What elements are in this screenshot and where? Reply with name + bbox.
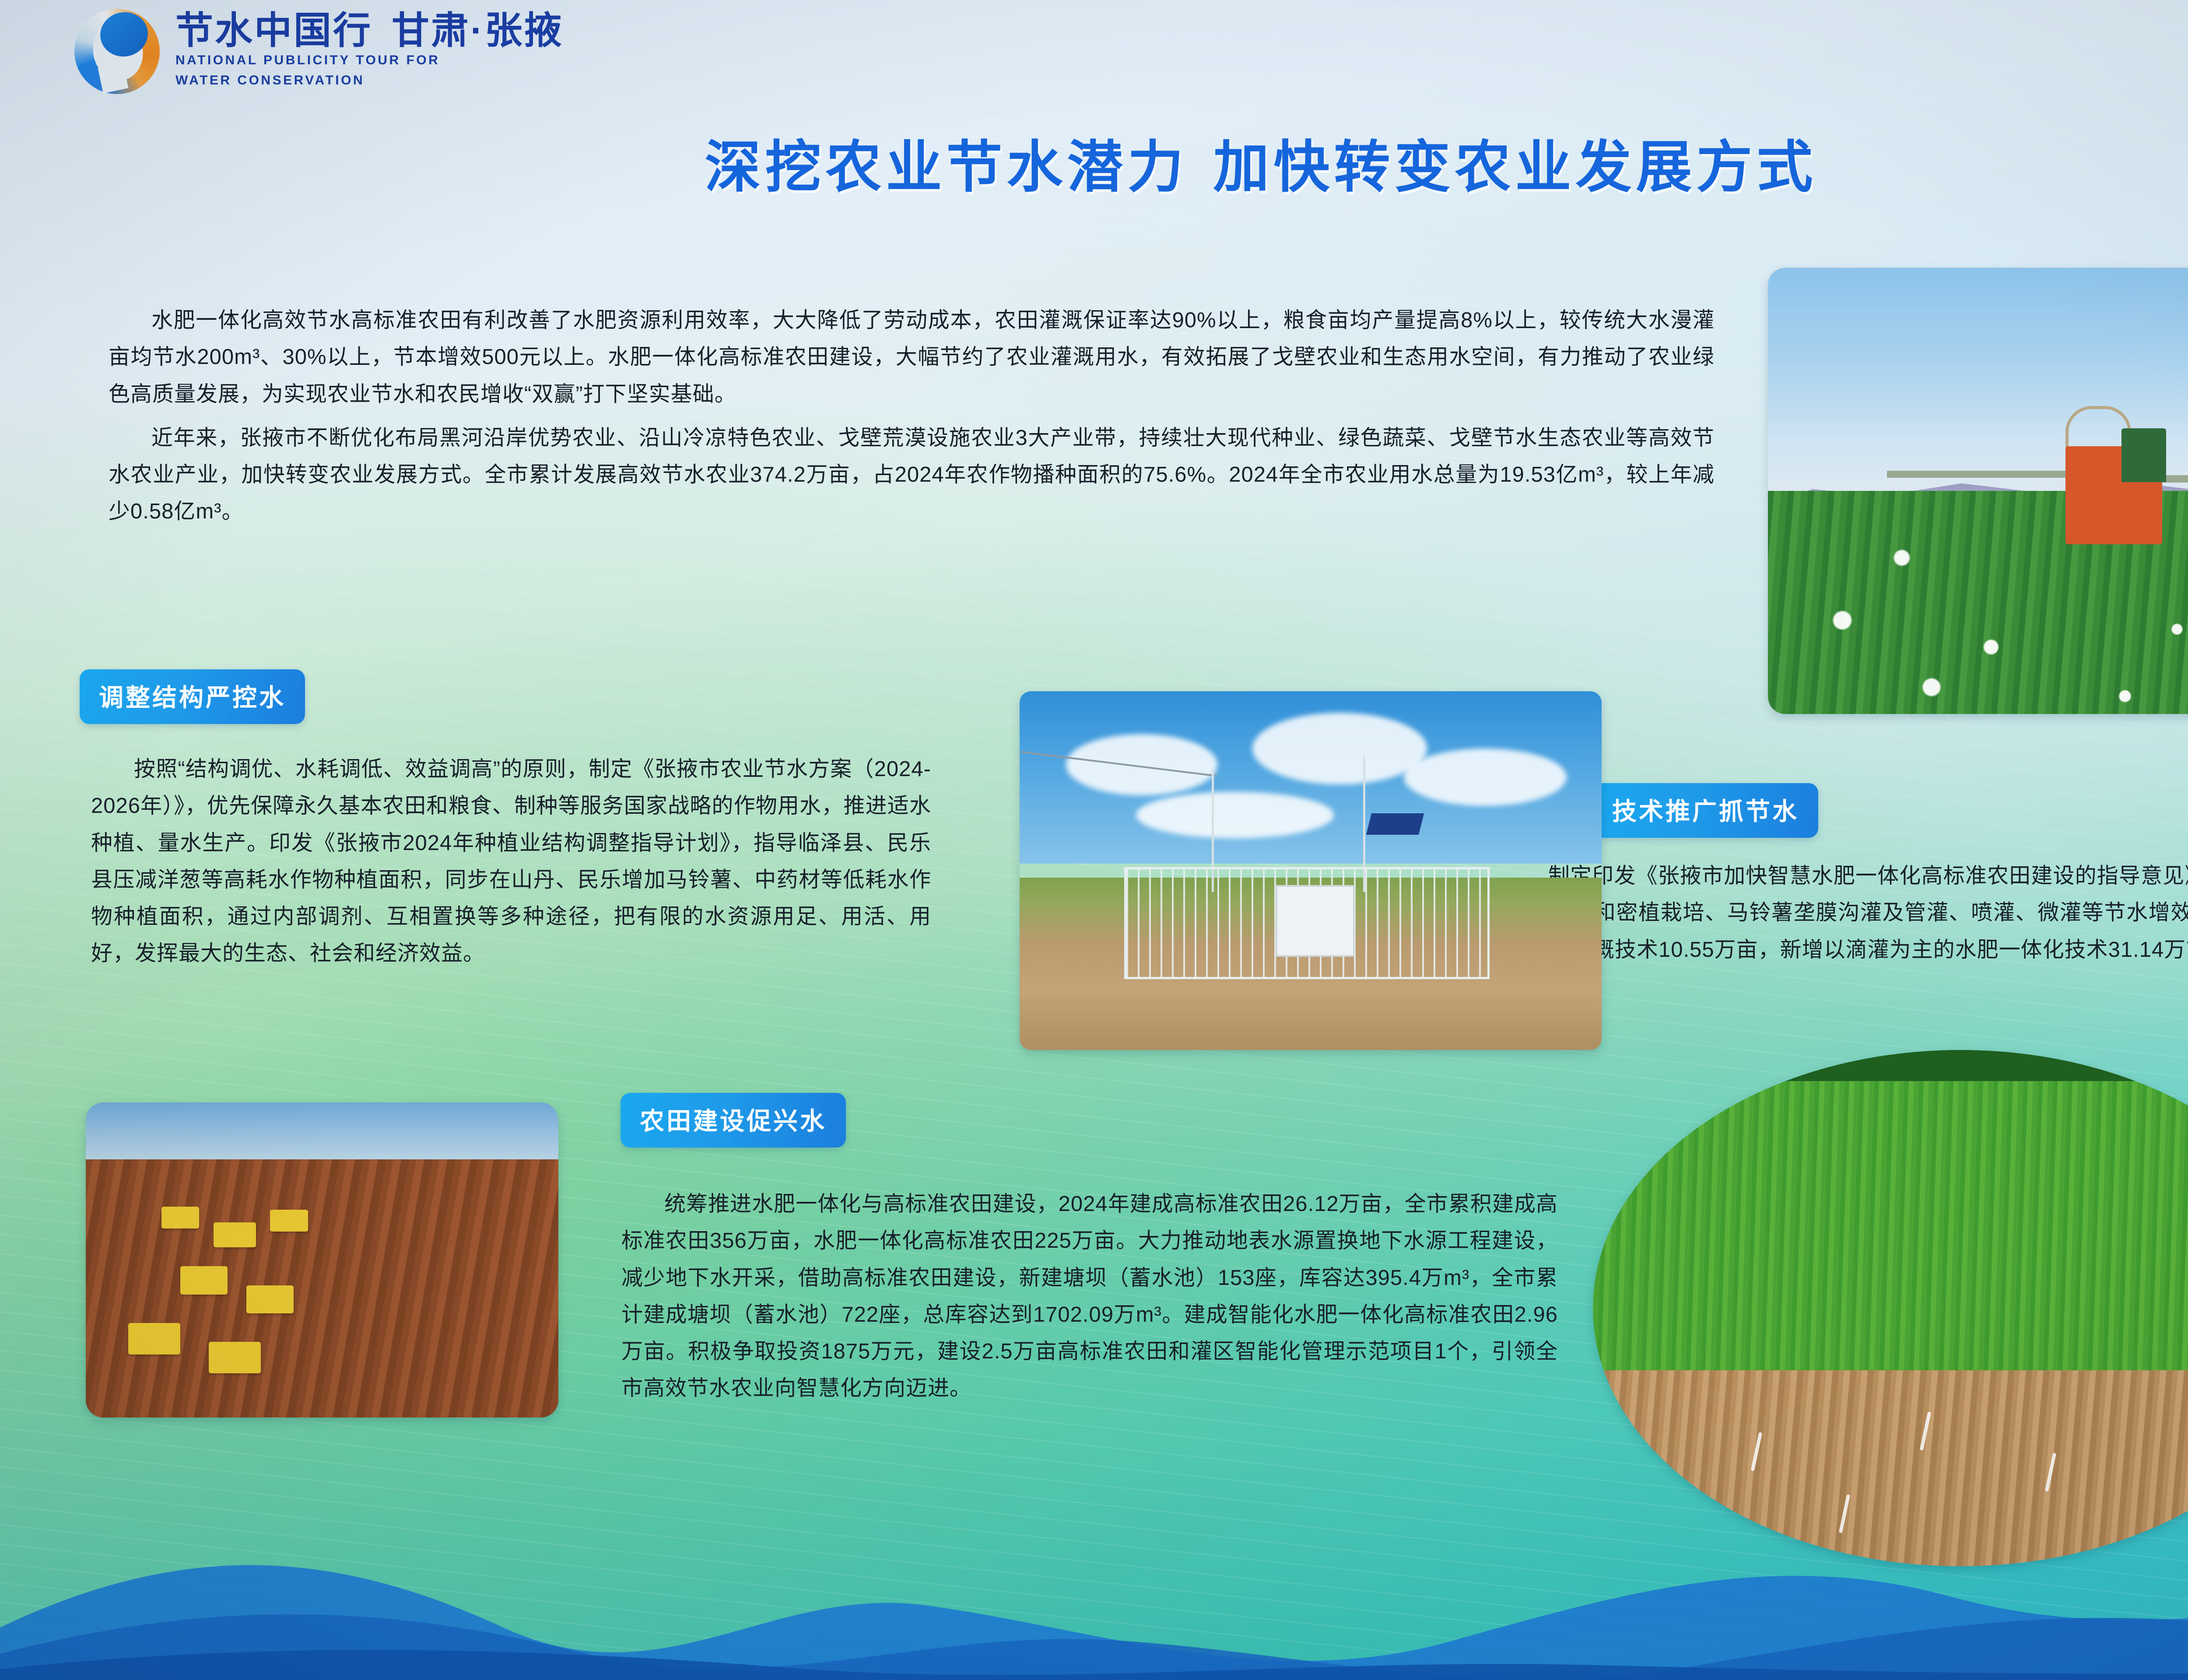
weather-station-field-photo [1020, 691, 1602, 1050]
brand-location: 甘肃·张掖 [392, 10, 564, 52]
page-title-part2: 加快转变农业发展方式 [1213, 136, 1817, 199]
section-badge-farmland-construction: 农田建设促兴水 [621, 1093, 846, 1148]
section-badge-label: 农田建设促兴水 [621, 1093, 846, 1148]
tillage-machinery-field-photo [86, 1102, 558, 1417]
page-title-part1: 深挖农业节水潜力 [705, 136, 1188, 199]
water-drop-ring-logo-icon [74, 9, 160, 94]
sprinkler-irrigation-field-photo [1593, 1050, 2188, 1566]
brand-title-cn: 节水中国行 [175, 10, 372, 52]
section-body-technology-promotion: 制定印发《张掖市加快智慧水肥一体化高标准农田建设的指导意见》，积极推广小麦浅埋滴… [1505, 857, 2188, 968]
poster-board: 节水中国行甘肃·张掖 NATIONAL PUBLICITY TOUR FOR W… [0, 0, 2188, 1680]
header: 节水中国行甘肃·张掖 NATIONAL PUBLICITY TOUR FOR W… [74, 9, 564, 94]
intro-paragraph-2: 近年来，张掖市不断优化布局黑河沿岸优势农业、沿山冷凉特色农业、戈壁荒漠设施农业3… [109, 420, 1715, 530]
section-badge-label: 调整结构严控水 [80, 669, 305, 724]
section-body-structure-adjustment: 按照“结构调优、水耗调低、效益调高”的原则，制定《张掖市农业节水方案（2024-… [91, 751, 931, 972]
section-badge-structure-adjustment: 调整结构严控水 [80, 669, 305, 724]
potato-field-sprayer-photo [1768, 268, 2188, 714]
intro-text-block: 水肥一体化高效节水高标准农田有利改善了水肥资源利用效率，大大降低了劳动成本，农田… [109, 302, 1715, 530]
brand-block: 节水中国行甘肃·张掖 NATIONAL PUBLICITY TOUR FOR W… [175, 12, 564, 91]
section-badge-technology-promotion: 技术推广抓节水 [1593, 783, 1818, 838]
intro-paragraph-1: 水肥一体化高效节水高标准农田有利改善了水肥资源利用效率，大大降低了劳动成本，农田… [109, 302, 1715, 413]
page-title: 深挖农业节水潜力加快转变农业发展方式 [0, 122, 2188, 203]
section-body-farmland-construction: 统筹推进水肥一体化与高标准农田建设，2024年建成高标准农田26.12万亩，全市… [621, 1186, 1558, 1407]
brand-subtitle-line2: WATER CONSERVATION [175, 70, 564, 91]
brand-subtitle-line1: NATIONAL PUBLICITY TOUR FOR [175, 50, 564, 71]
section-badge-label: 技术推广抓节水 [1593, 783, 1818, 838]
